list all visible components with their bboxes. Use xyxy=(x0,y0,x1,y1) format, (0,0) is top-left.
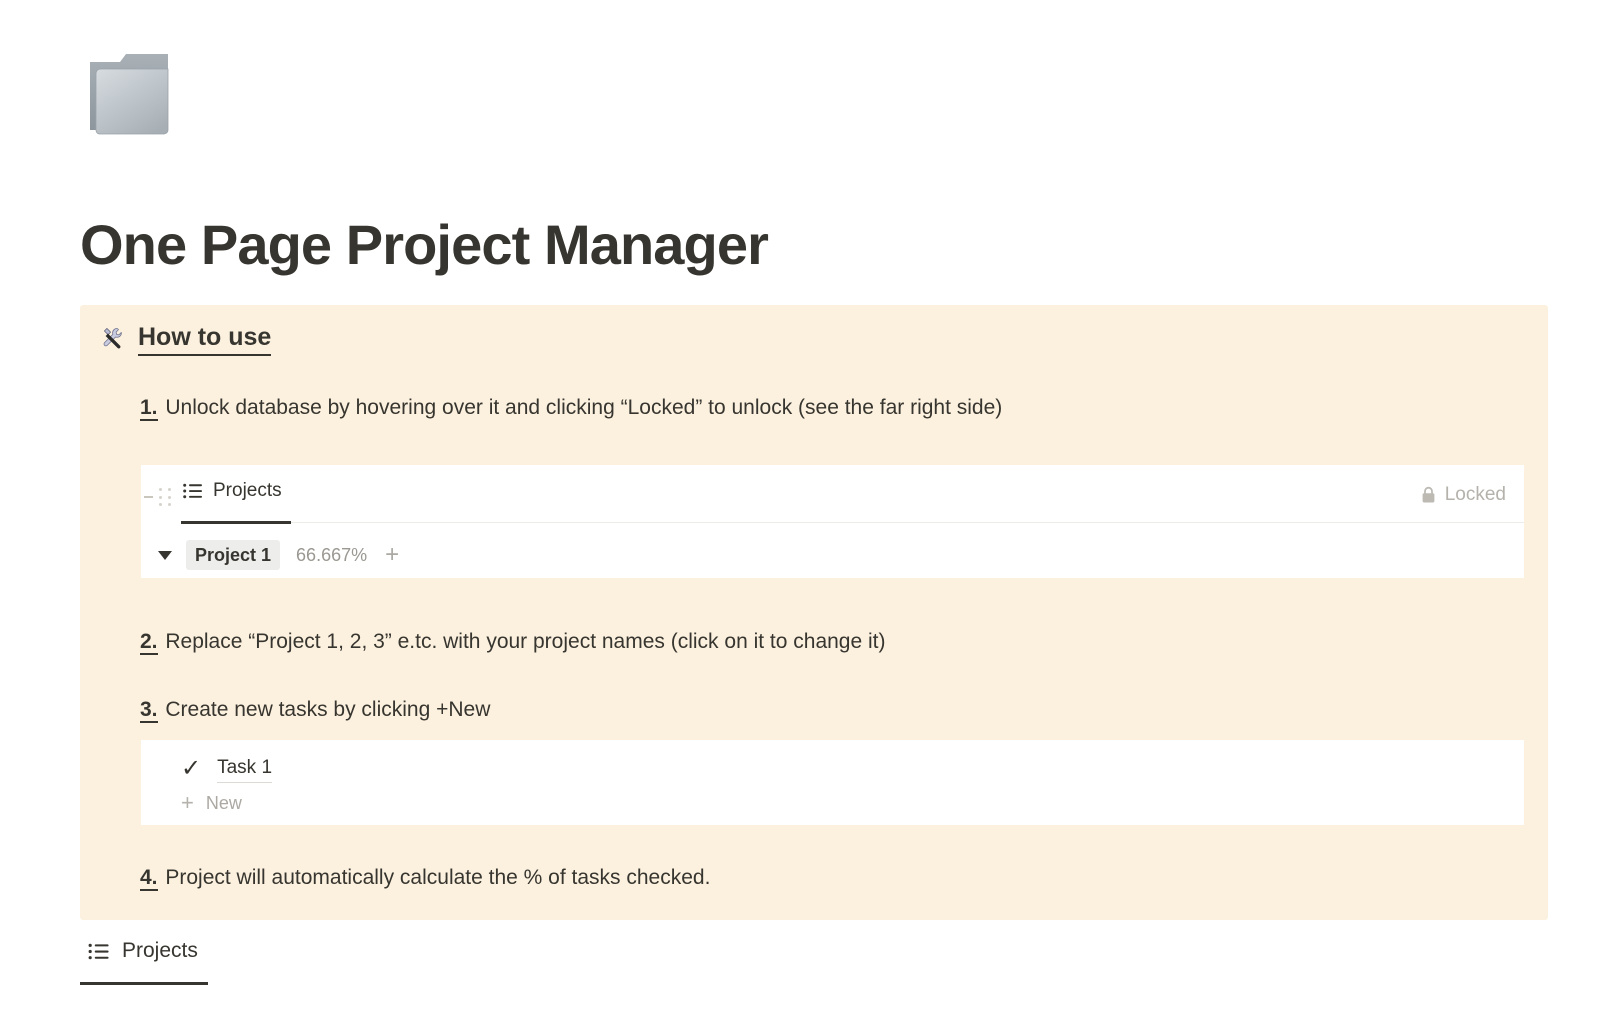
step-text: Project will automatically calculate the… xyxy=(160,866,711,889)
minus-icon[interactable] xyxy=(144,496,153,498)
plus-icon[interactable]: + xyxy=(385,543,399,567)
lock-status[interactable]: Locked xyxy=(1421,483,1506,507)
instruction-step-2: 2. Replace “Project 1, 2, 3” e.tc. with … xyxy=(140,627,886,657)
active-tab-indicator xyxy=(181,521,291,524)
projects-database-embed[interactable]: Projects Locked Project 1 xyxy=(141,465,1524,578)
tasks-database-embed[interactable]: ✓ Task 1 + New xyxy=(141,740,1524,825)
task-row[interactable]: ✓ Task 1 xyxy=(181,749,272,789)
folder-icon[interactable] xyxy=(82,44,192,154)
lock-label: Locked xyxy=(1445,483,1506,507)
step-number: 1. xyxy=(140,396,158,421)
hammer-and-wrench-icon xyxy=(100,326,126,352)
database-view-tab-projects[interactable]: Projects xyxy=(181,479,290,513)
task-label[interactable]: Task 1 xyxy=(217,755,272,783)
instruction-step-4: 4. Project will automatically calculate … xyxy=(140,863,710,893)
checkmark-icon[interactable]: ✓ xyxy=(181,757,201,781)
instruction-step-3: 3. Create new tasks by clicking +New xyxy=(140,695,490,725)
database-header: Projects Locked xyxy=(141,465,1524,530)
tab-projects[interactable]: Projects xyxy=(88,938,198,974)
step-text: Create new tasks by clicking +New xyxy=(160,698,491,721)
drag-handle-icon[interactable] xyxy=(159,488,173,508)
database-header-divider xyxy=(181,522,1524,523)
triangle-down-icon[interactable] xyxy=(158,551,172,560)
how-to-use-callout: How to use 1. Unlock database by hoverin… xyxy=(80,305,1548,920)
instruction-step-1: 1. Unlock database by hovering over it a… xyxy=(140,393,1002,423)
database-group-row[interactable]: Project 1 66.667% + xyxy=(141,532,1524,578)
step-number: 3. xyxy=(140,698,158,723)
step-number: 4. xyxy=(140,866,158,891)
tab-projects-label: Projects xyxy=(122,938,198,964)
step-number: 2. xyxy=(140,630,158,655)
callout-heading: How to use xyxy=(138,321,271,356)
project-percent: 66.667% xyxy=(296,543,367,567)
page-database-tabs: Projects xyxy=(80,938,1550,982)
list-view-icon xyxy=(88,943,110,960)
new-task-label: New xyxy=(206,791,242,815)
page-title: One Page Project Manager xyxy=(80,212,768,278)
list-view-icon xyxy=(183,483,203,499)
callout-header: How to use xyxy=(100,321,271,356)
project-name-chip[interactable]: Project 1 xyxy=(186,540,280,570)
lock-icon xyxy=(1421,486,1436,504)
step-text: Replace “Project 1, 2, 3” e.tc. with you… xyxy=(160,630,886,653)
step-text: Unlock database by hovering over it and … xyxy=(160,396,1003,419)
plus-icon: + xyxy=(181,792,194,814)
database-view-tab-label: Projects xyxy=(213,479,282,503)
active-tab-indicator xyxy=(80,982,208,985)
new-task-button[interactable]: + New xyxy=(181,791,242,815)
notion-page: One Page Project Manager How to use 1. U… xyxy=(0,0,1600,1024)
